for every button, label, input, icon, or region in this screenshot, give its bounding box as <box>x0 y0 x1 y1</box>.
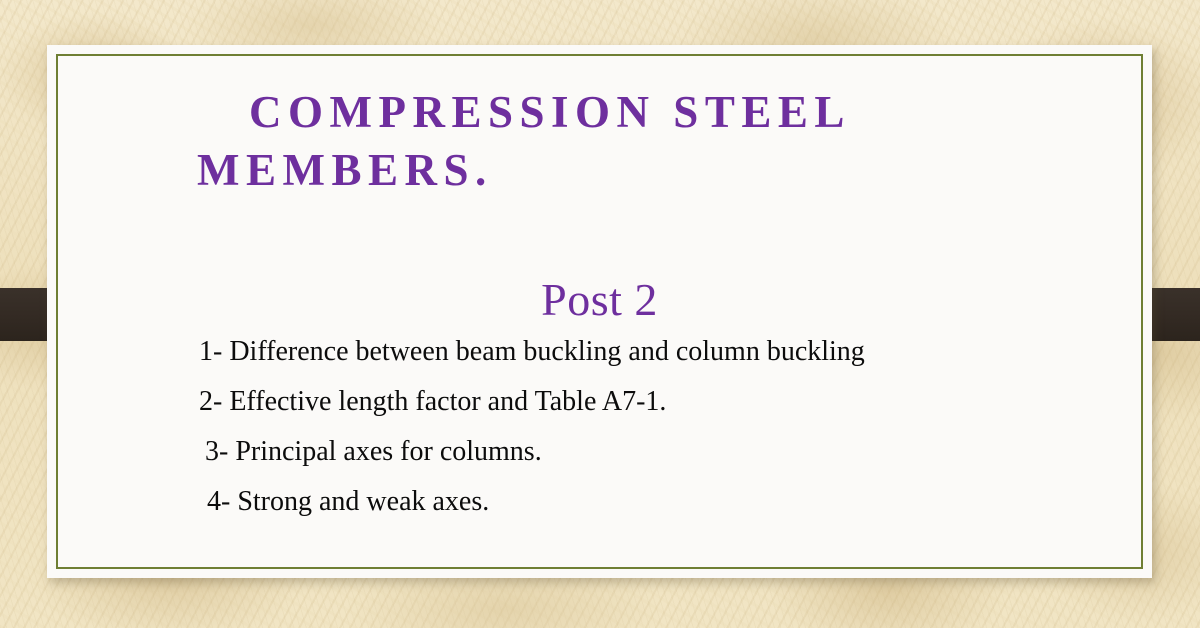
slide-card: COMPRESSION STEEL MEMBERS. Post 2 1- Dif… <box>47 45 1152 578</box>
list-item: 2- Effective length factor and Table A7-… <box>199 377 1079 427</box>
card-content: COMPRESSION STEEL MEMBERS. Post 2 1- Dif… <box>47 45 1152 578</box>
list-item: 4- Strong and weak axes. <box>199 477 1079 527</box>
agenda-list: 1- Difference between beam buckling and … <box>199 327 1079 527</box>
list-item: 3- Principal axes for columns. <box>199 427 1079 477</box>
slide-canvas: COMPRESSION STEEL MEMBERS. Post 2 1- Dif… <box>0 0 1200 628</box>
page-title: COMPRESSION STEEL MEMBERS. <box>197 83 1007 199</box>
list-item: 1- Difference between beam buckling and … <box>199 327 1079 377</box>
slide-subtitle: Post 2 <box>47 273 1152 326</box>
